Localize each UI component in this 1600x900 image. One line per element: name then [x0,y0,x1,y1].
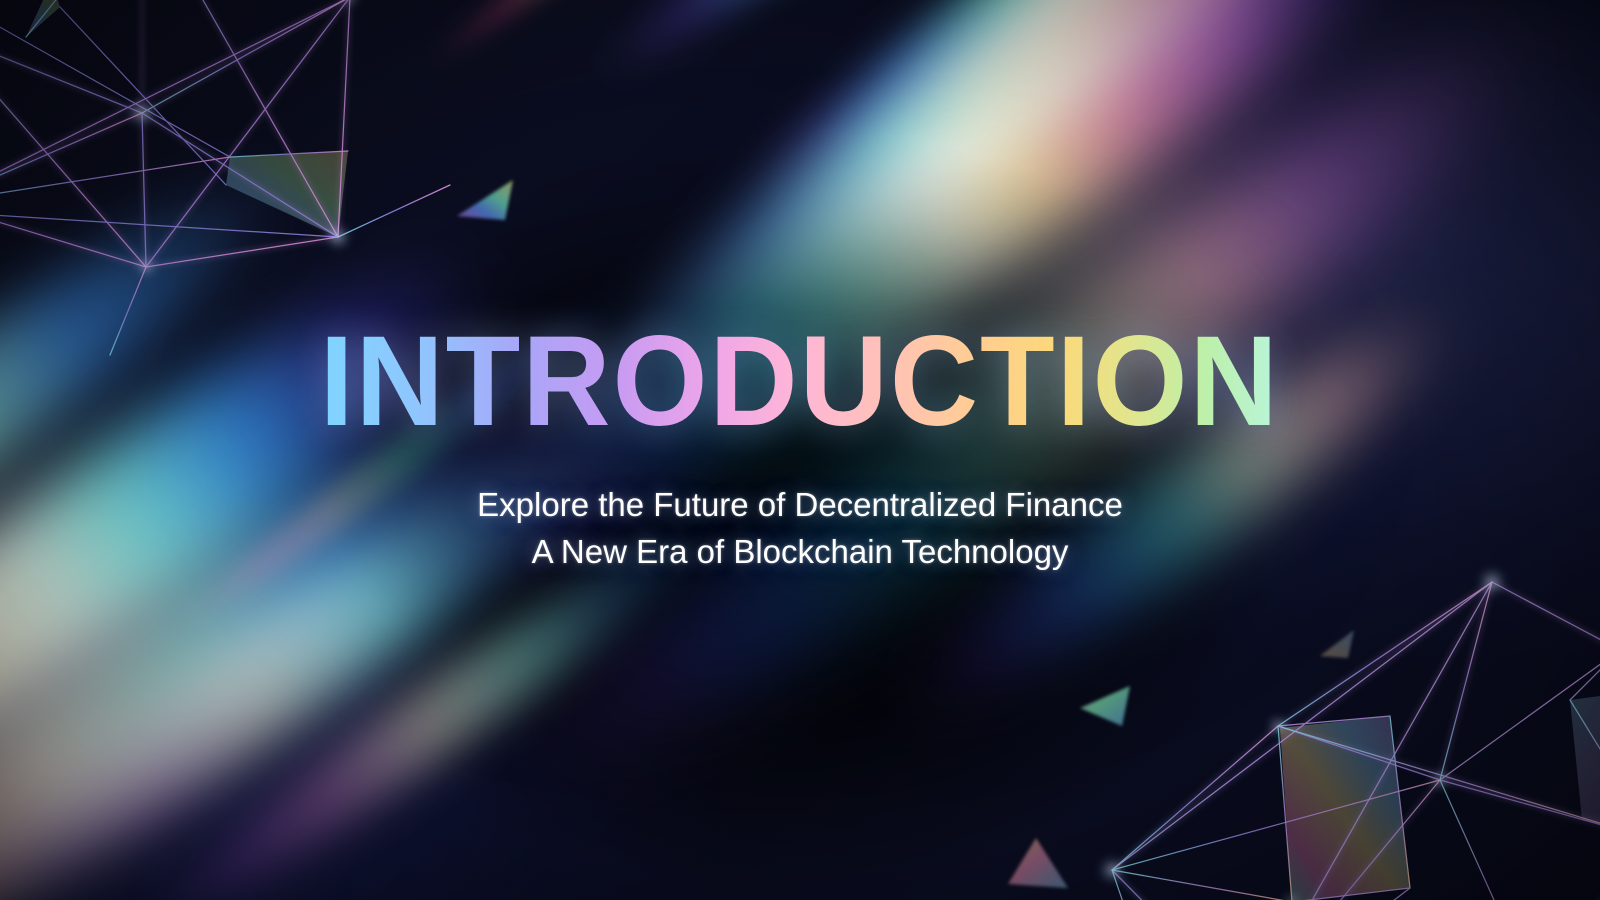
hero-content: INTRODUCTION INTRODUCTION Explore the Fu… [0,0,1600,900]
hero-banner: INTRODUCTION INTRODUCTION Explore the Fu… [0,0,1600,900]
page-title: INTRODUCTION [320,318,1280,446]
hero-title-wrapper: INTRODUCTION INTRODUCTION [297,318,1302,446]
hero-subtitle-line-2: A New Era of Blockchain Technology [477,529,1123,576]
hero-subtitle-line-1: Explore the Future of Decentralized Fina… [477,482,1123,529]
hero-subtitle: Explore the Future of Decentralized Fina… [477,482,1123,576]
